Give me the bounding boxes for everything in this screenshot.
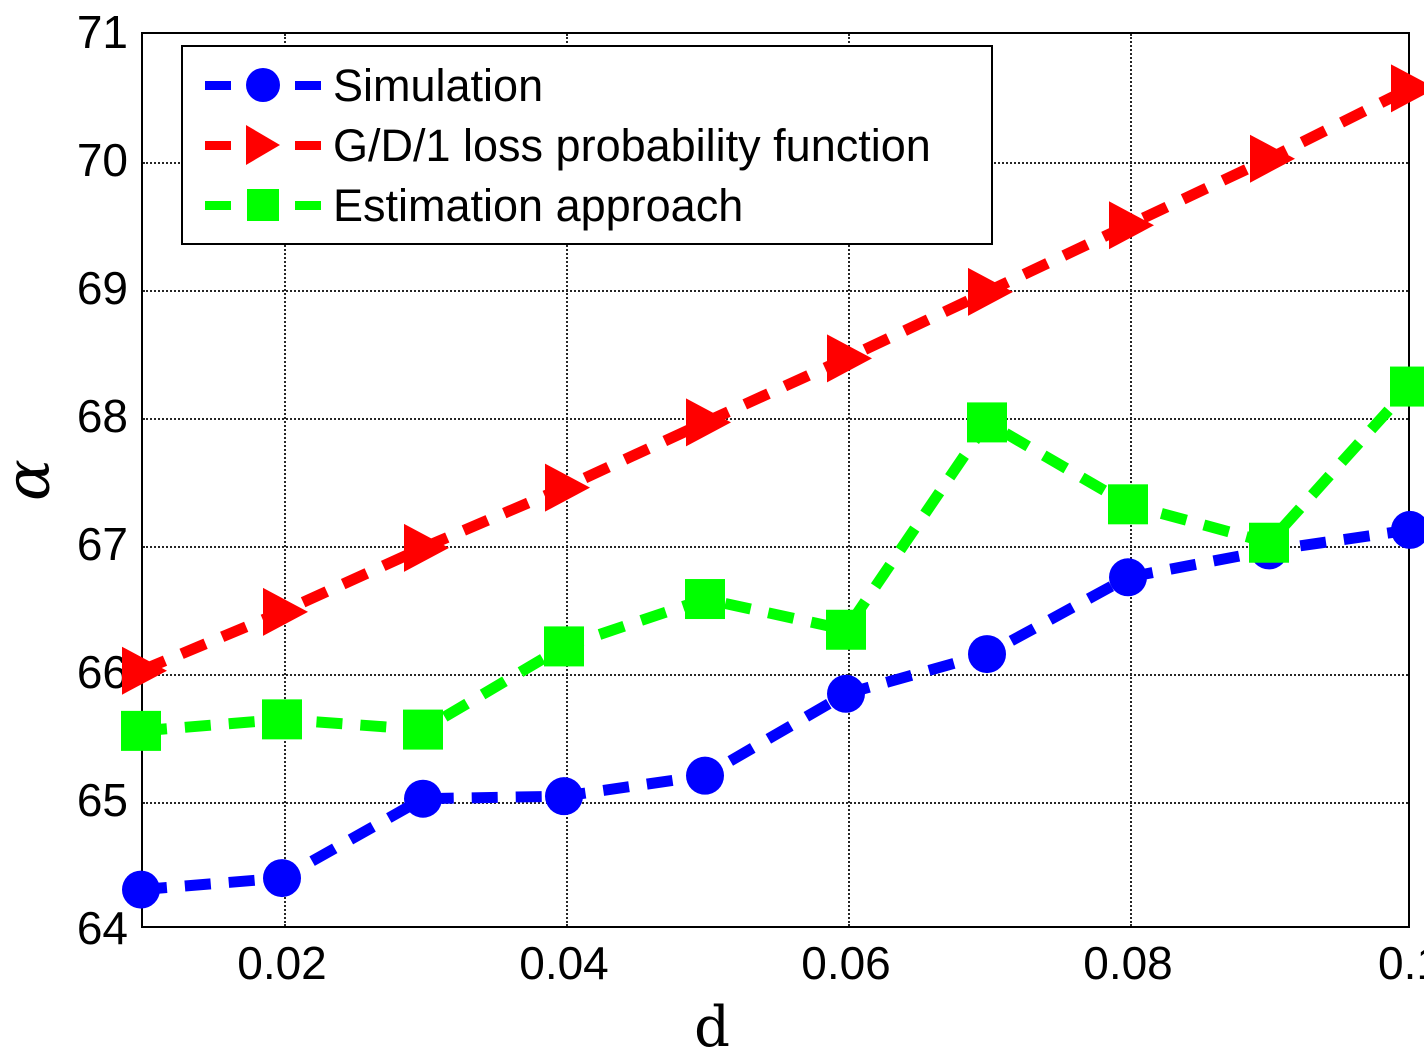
legend-item-simulation: Simulation — [183, 55, 991, 115]
x-tick-label: 0.06 — [746, 940, 946, 986]
y-tick-label: 71 — [0, 9, 128, 55]
legend-sample-square-icon — [205, 182, 321, 228]
y-tick-label: 68 — [0, 393, 128, 439]
legend-label-estimation: Estimation approach — [333, 183, 743, 228]
y-tick-label: 67 — [0, 521, 128, 567]
x-axis-label: d — [0, 995, 1424, 1060]
y-tick-label: 70 — [0, 137, 128, 183]
legend-label-simulation: Simulation — [333, 63, 543, 108]
legend-item-estimation: Estimation approach — [183, 175, 991, 235]
y-tick-label: 64 — [0, 905, 128, 951]
legend-sample-triangle-icon — [205, 122, 321, 168]
legend-label-gd1: G/D/1 loss probability function — [333, 123, 931, 168]
gridline-horizontal — [143, 546, 1408, 548]
gridline-horizontal — [143, 290, 1408, 292]
legend-item-gd1: G/D/1 loss probability function — [183, 115, 991, 175]
gridline-horizontal — [143, 418, 1408, 420]
x-tick-label: 0.04 — [464, 940, 664, 986]
x-tick-label: 0.02 — [182, 940, 382, 986]
y-tick-label: 65 — [0, 777, 128, 823]
x-tick-label: 0.08 — [1028, 940, 1228, 986]
y-tick-label: 69 — [0, 265, 128, 311]
legend-sample-circle-icon — [205, 62, 321, 108]
y-tick-label: 66 — [0, 649, 128, 695]
gridline-horizontal — [143, 802, 1408, 804]
gridline-horizontal — [143, 674, 1408, 676]
y-axis-label: α — [0, 459, 63, 501]
chart-legend: Simulation G/D/1 loss probability functi… — [181, 45, 993, 245]
chart-figure: α d 6465666768697071 0.020.040.060.080.1… — [0, 0, 1424, 1064]
x-tick-label: 0.1 — [1310, 940, 1424, 986]
gridline-vertical — [1130, 34, 1132, 926]
